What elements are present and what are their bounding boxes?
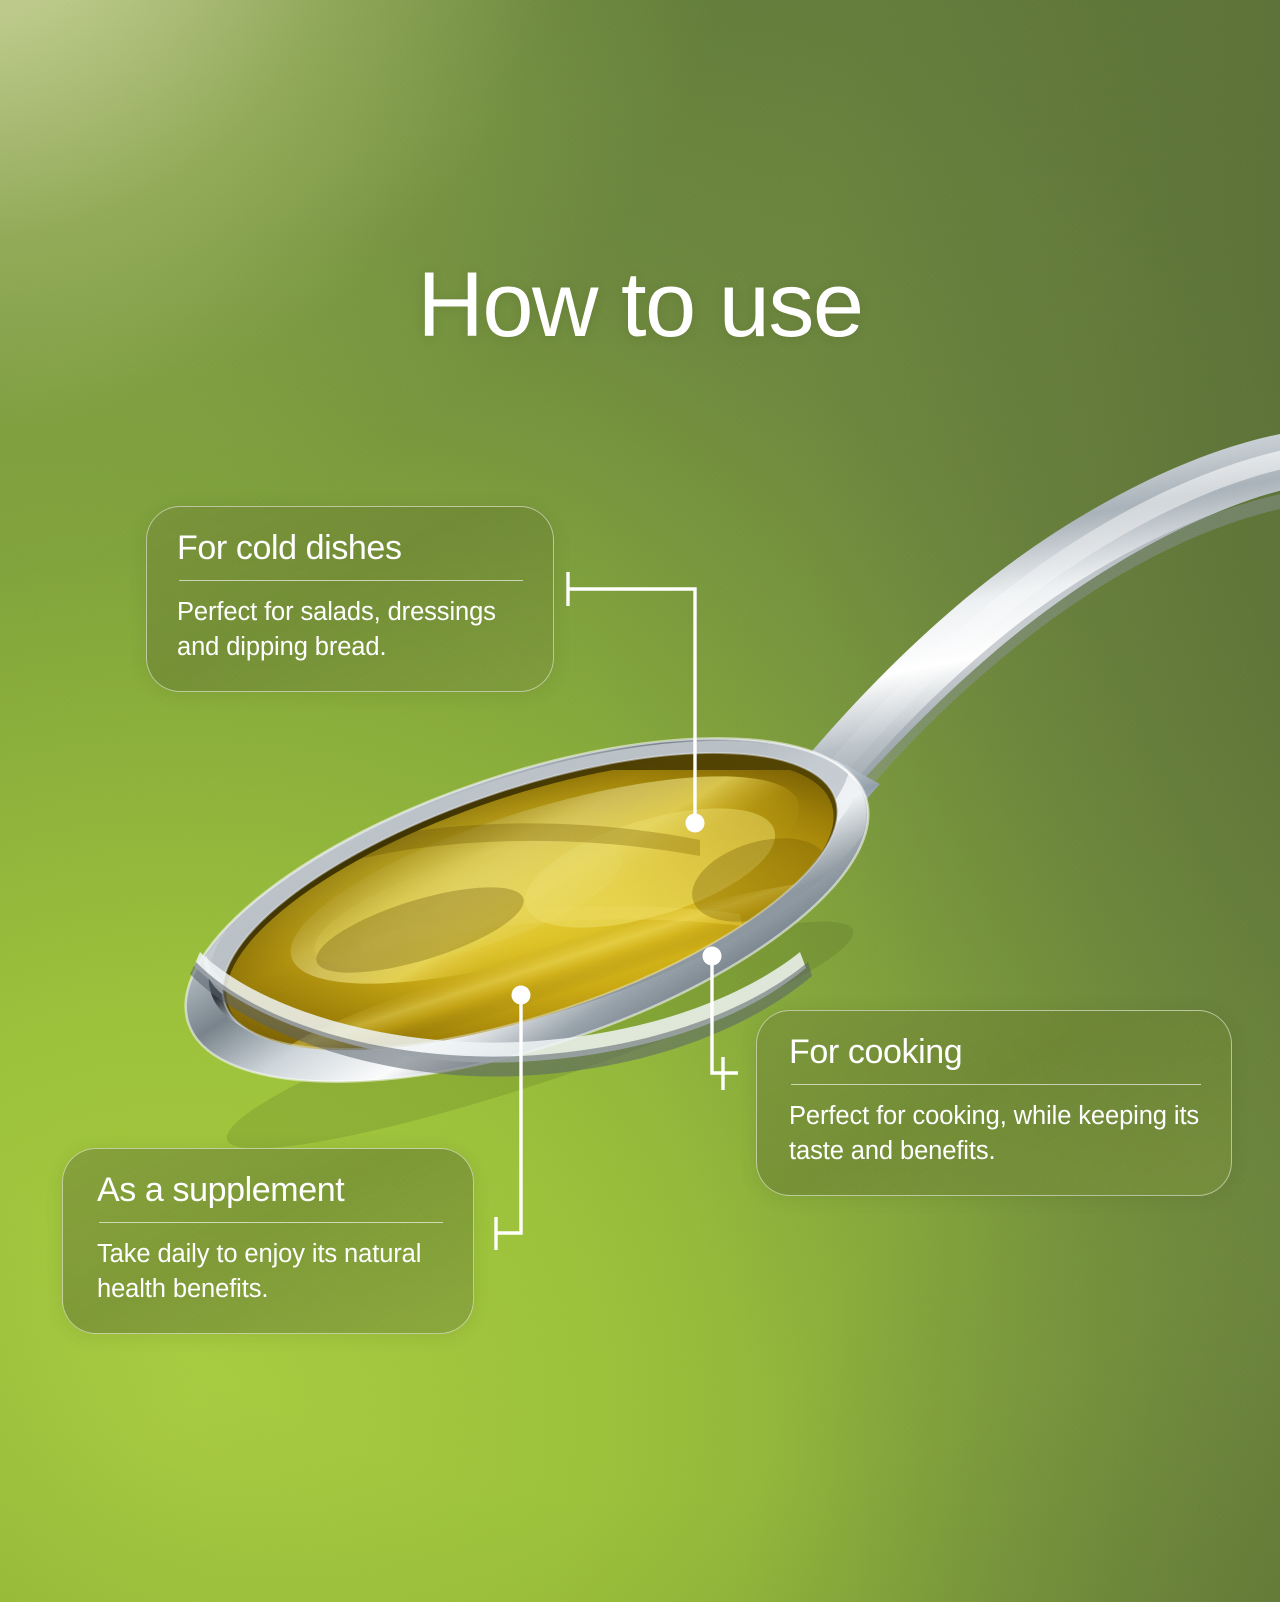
callout-divider bbox=[179, 580, 523, 581]
callout-divider bbox=[99, 1222, 443, 1223]
page-title: How to use bbox=[0, 258, 1280, 354]
background-vignette bbox=[0, 0, 1280, 1602]
callout-card-supplement[interactable]: As a supplement Take daily to enjoy its … bbox=[62, 1148, 474, 1334]
callout-card-cold-dishes[interactable]: For cold dishes Perfect for salads, dres… bbox=[146, 506, 554, 692]
poster-canvas: How to use For cold dishes Perfect for s… bbox=[0, 0, 1280, 1602]
callout-title-supplement: As a supplement bbox=[97, 1171, 445, 1209]
callout-body-cold-dishes: Perfect for salads, dressings and dippin… bbox=[177, 595, 525, 665]
callout-divider bbox=[791, 1084, 1201, 1085]
callout-title-cold-dishes: For cold dishes bbox=[177, 529, 525, 567]
callout-body-supplement: Take daily to enjoy its natural health b… bbox=[97, 1237, 445, 1307]
callout-body-cooking: Perfect for cooking, while keeping its t… bbox=[789, 1099, 1203, 1169]
callout-card-cooking[interactable]: For cooking Perfect for cooking, while k… bbox=[756, 1010, 1232, 1196]
callout-title-cooking: For cooking bbox=[789, 1033, 1203, 1071]
